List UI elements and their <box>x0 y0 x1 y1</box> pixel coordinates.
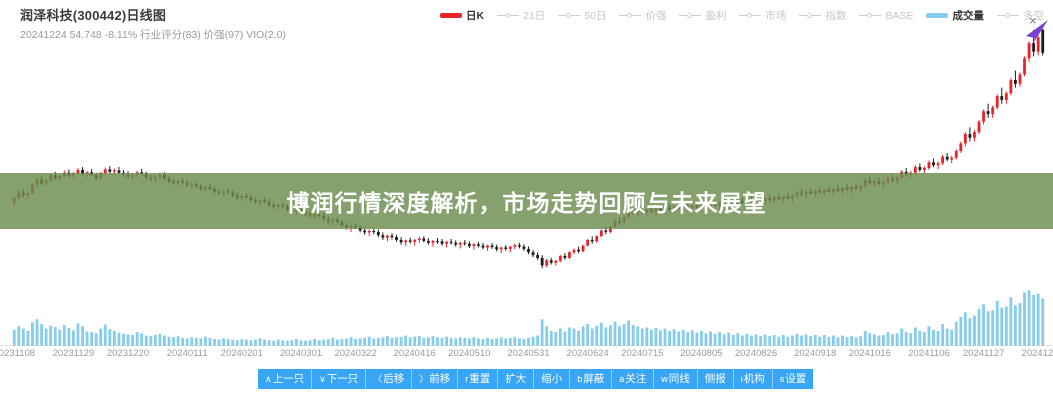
toolbar-button-label: 机构 <box>744 369 765 389</box>
x-axis-tick: 20240715 <box>621 348 663 359</box>
legend-item-1[interactable]: 21日 <box>497 8 545 23</box>
toolbar-button-1[interactable]: ∨下一只 <box>312 369 366 389</box>
x-axis-tick: 20241218 <box>1022 348 1053 359</box>
toolbar-button-mark: ∨ <box>319 369 326 389</box>
legend-item-0[interactable]: 日K <box>440 8 484 23</box>
toolbar-button-label: 同线 <box>669 369 690 389</box>
legend-line-icon <box>679 12 701 19</box>
toolbar-button-mark: a <box>619 369 624 389</box>
toolbar-button-3[interactable]: 〉前移 <box>412 369 458 389</box>
x-axis-tick: 20241106 <box>908 348 950 359</box>
page-title: 润泽科技(300442)日线图 <box>20 8 286 24</box>
x-axis-tick: 20240111 <box>167 348 208 359</box>
legend-line-icon <box>497 12 519 19</box>
legend-label: 成交量 <box>952 8 984 23</box>
legend-line-icon <box>859 12 881 19</box>
toolbar-button-label: 侧报 <box>705 369 726 389</box>
toolbar-button-mark: i <box>741 369 743 389</box>
toolbar-button-label: 重置 <box>469 369 490 389</box>
legend-item-7[interactable]: BASE <box>859 10 913 22</box>
toolbar-button-label: 上一只 <box>273 369 305 389</box>
x-axis-tick: 20240624 <box>567 348 609 359</box>
toolbar-button-11[interactable]: i机构 <box>734 369 773 389</box>
legend-label: 市场 <box>765 8 786 23</box>
toolbar-button-mark: r <box>465 369 468 389</box>
toolbar-button-8[interactable]: a关注 <box>612 369 654 389</box>
toolbar-button-7[interactable]: b屏蔽 <box>570 369 612 389</box>
chart-legend: 日K21日50日价强盈利市场指数BASE成交量多空公告内线 <box>440 8 1053 23</box>
x-axis-tick: 20240201 <box>221 348 263 359</box>
toolbar-button-mark: 〉 <box>419 369 428 389</box>
legend-item-8[interactable]: 成交量 <box>926 8 984 23</box>
toolbar-button-label: 屏蔽 <box>583 369 604 389</box>
toolbar-button-4[interactable]: r重置 <box>458 369 498 389</box>
x-axis-tick: 20240416 <box>394 348 436 359</box>
toolbar-button-label: 前移 <box>429 369 450 389</box>
toolbar-button-label: 后移 <box>383 369 404 389</box>
toolbar-button-10[interactable]: 侧报 <box>698 369 734 389</box>
toolbar-button-label: 下一只 <box>327 369 359 389</box>
x-axis-tick: 20241016 <box>849 348 891 359</box>
toolbar-button-mark: ∧ <box>265 369 272 389</box>
legend-item-9[interactable]: 多空 <box>997 8 1044 23</box>
x-axis-tick: 20231129 <box>53 348 95 359</box>
x-axis-labels: 2023110820231129202312202024011120240201… <box>0 348 1053 364</box>
legend-label: BASE <box>885 10 913 22</box>
x-axis-tick: 20231220 <box>107 348 149 359</box>
toolbar-button-label: 设置 <box>785 369 806 389</box>
legend-item-4[interactable]: 盈利 <box>679 8 726 23</box>
legend-swatch-icon <box>440 13 462 18</box>
x-axis-tick: 20241127 <box>963 348 1005 359</box>
overlay-banner: 博润行情深度解析，市场走势回顾与未来展望 <box>0 173 1053 229</box>
toolbar-button-mark: w <box>661 369 668 389</box>
x-axis-tick: 20240918 <box>794 348 836 359</box>
legend-swatch-icon <box>926 13 948 18</box>
legend-line-icon <box>558 12 580 19</box>
toolbar-button-mark: b <box>577 369 582 389</box>
toolbar-button-mark: s <box>780 369 785 389</box>
legend-line-icon <box>799 12 821 19</box>
legend-label: 盈利 <box>705 8 726 23</box>
toolbar-button-mark: 〈 <box>373 369 382 389</box>
x-axis-tick: 20231108 <box>0 348 35 359</box>
x-axis-tick: 20240805 <box>680 348 722 359</box>
toolbar-button-12[interactable]: s设置 <box>773 369 814 389</box>
legend-item-3[interactable]: 价强 <box>619 8 666 23</box>
x-axis-tick: 20240826 <box>735 348 777 359</box>
toolbar-button-label: 关注 <box>625 369 646 389</box>
legend-label: 50日 <box>584 8 606 23</box>
x-axis-tick: 20240510 <box>448 348 490 359</box>
close-icon[interactable]: × <box>1029 14 1037 27</box>
x-axis-tick: 20240301 <box>280 348 322 359</box>
legend-label: 21日 <box>523 8 545 23</box>
legend-item-5[interactable]: 市场 <box>739 8 786 23</box>
legend-item-2[interactable]: 50日 <box>558 8 606 23</box>
chart-toolbar[interactable]: ∧上一只∨下一只〈后移〉前移r重置扩大缩小b屏蔽a关注w同线侧报i机构s设置 <box>258 369 813 389</box>
legend-line-icon <box>997 12 1019 19</box>
toolbar-button-label: 扩大 <box>505 369 526 389</box>
stock-chart-app: 润泽科技(300442)日线图 20241224 54.748 -8.11% 行… <box>0 0 1053 400</box>
toolbar-button-6[interactable]: 缩小 <box>534 369 570 389</box>
toolbar-button-5[interactable]: 扩大 <box>498 369 534 389</box>
legend-label: 日K <box>466 8 484 23</box>
toolbar-button-9[interactable]: w同线 <box>654 369 698 389</box>
toolbar-button-2[interactable]: 〈后移 <box>366 369 412 389</box>
legend-label: 价强 <box>645 8 666 23</box>
toolbar-button-label: 缩小 <box>541 369 562 389</box>
overlay-banner-text: 博润行情深度解析，市场走势回顾与未来展望 <box>287 184 767 218</box>
toolbar-button-0[interactable]: ∧上一只 <box>258 369 312 389</box>
legend-line-icon <box>619 12 641 19</box>
legend-item-6[interactable]: 指数 <box>799 8 846 23</box>
x-axis-tick: 20240531 <box>507 348 549 359</box>
x-axis-tick: 20240322 <box>334 348 376 359</box>
legend-label: 指数 <box>825 8 846 23</box>
legend-line-icon <box>739 12 761 19</box>
